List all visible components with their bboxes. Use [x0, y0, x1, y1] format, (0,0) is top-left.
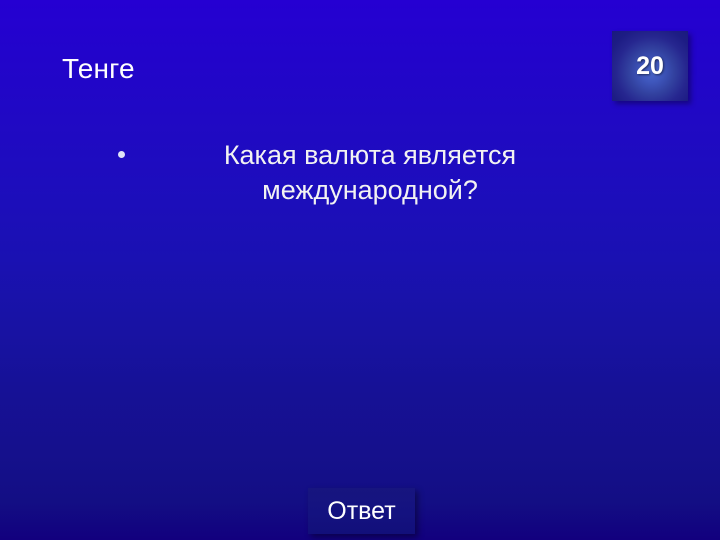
answer-button-label: Ответ [327, 499, 395, 524]
answer-button[interactable]: Ответ [308, 488, 415, 534]
bullet-dot-icon [118, 151, 125, 158]
page-title: Тенге [62, 52, 542, 86]
score-value: 20 [636, 54, 664, 79]
jeopardy-question-slide: Тенге 20 Какая валюта является междунаро… [0, 0, 720, 540]
question-text: Какая валюта является международной? [138, 138, 602, 208]
question-body: Какая валюта является международной? [118, 138, 602, 208]
score-badge[interactable]: 20 [612, 31, 688, 101]
list-item: Какая валюта является международной? [118, 138, 602, 208]
